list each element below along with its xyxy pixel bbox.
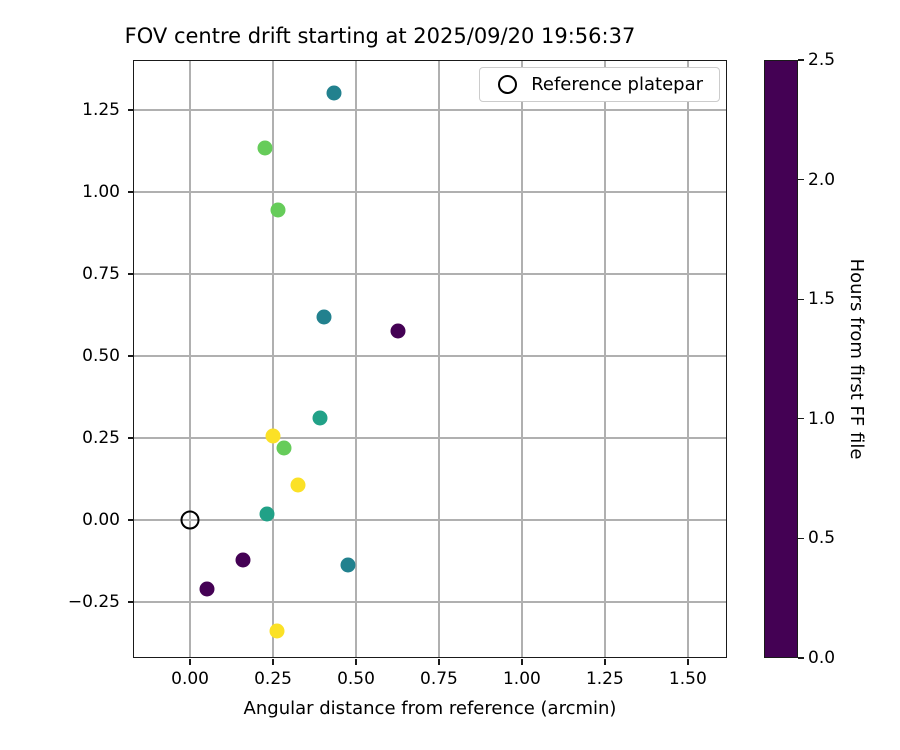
scatter-point — [270, 624, 285, 639]
gridline-horizontal — [134, 601, 726, 602]
x-tick — [687, 659, 688, 665]
y-tick-label: 0.50 — [82, 346, 120, 366]
y-tick-label: −0.25 — [68, 592, 120, 612]
chart-title: FOV centre drift starting at 2025/09/20 … — [0, 24, 760, 48]
x-tick-label: 0.50 — [337, 669, 375, 689]
gridline-horizontal — [134, 355, 726, 356]
y-tick — [128, 355, 134, 356]
y-tick — [128, 437, 134, 438]
gridline-vertical — [521, 61, 522, 657]
colorbar: 0.00.51.01.52.02.5 — [764, 60, 798, 658]
colorbar-tick-label: 1.5 — [808, 289, 835, 309]
colorbar-tick — [798, 418, 804, 419]
gridline-horizontal — [134, 437, 726, 438]
gridline-horizontal — [134, 519, 726, 520]
scatter-point — [317, 309, 332, 324]
reference-platepar-marker-icon — [498, 75, 517, 94]
x-tick — [604, 659, 605, 665]
colorbar-tick — [798, 59, 804, 60]
y-tick — [128, 191, 134, 192]
gridline-horizontal — [134, 273, 726, 274]
x-tick-label: 1.00 — [503, 669, 541, 689]
x-tick — [272, 659, 273, 665]
scatter-point — [391, 324, 406, 339]
scatter-point — [199, 582, 214, 597]
colorbar-tick-label: 2.5 — [808, 50, 835, 70]
colorbar-tick — [798, 538, 804, 539]
y-tick — [128, 519, 134, 520]
x-tick — [438, 659, 439, 665]
scatter-point — [271, 202, 286, 217]
scatter-point — [327, 86, 342, 101]
colorbar-label: Hours from first FF file — [846, 60, 866, 658]
y-tick-label: 0.75 — [82, 264, 120, 284]
colorbar-tick-label: 0.5 — [808, 528, 835, 548]
colorbar-tick — [798, 299, 804, 300]
colorbar-tick-label: 1.0 — [808, 409, 835, 429]
gridline-vertical — [687, 61, 688, 657]
scatter-point — [276, 440, 291, 455]
gridline-vertical — [604, 61, 605, 657]
y-tick — [128, 273, 134, 274]
scatter-point — [313, 411, 328, 426]
x-tick-label: 1.25 — [586, 669, 624, 689]
y-tick-label: 0.00 — [82, 510, 120, 530]
colorbar-tick-label: 0.0 — [808, 648, 835, 668]
legend[interactable]: Reference platepar — [479, 67, 720, 102]
x-tick — [521, 659, 522, 665]
x-tick-label: 0.25 — [254, 669, 292, 689]
gridline-vertical — [355, 61, 356, 657]
scatter-point — [260, 507, 275, 522]
reference-platepar-point — [181, 510, 200, 529]
gridline-vertical — [272, 61, 273, 657]
gridline-horizontal — [134, 109, 726, 110]
y-tick — [128, 601, 134, 602]
x-tick-label: 0.00 — [171, 669, 209, 689]
y-tick — [128, 109, 134, 110]
y-tick-label: 1.25 — [82, 100, 120, 120]
x-tick — [355, 659, 356, 665]
scatter-point — [290, 478, 305, 493]
y-tick-label: 0.25 — [82, 428, 120, 448]
gridline-horizontal — [134, 191, 726, 192]
colorbar-tick — [798, 657, 804, 658]
x-tick-label: 0.75 — [420, 669, 458, 689]
scatter-point — [340, 557, 355, 572]
x-axis-label: Angular distance from reference (arcmin) — [133, 698, 727, 719]
gridline-vertical — [189, 61, 190, 657]
figure: FOV centre drift starting at 2025/09/20 … — [0, 0, 900, 750]
colorbar-tick-label: 2.0 — [808, 170, 835, 190]
y-tick-label: 1.00 — [82, 182, 120, 202]
colorbar-gradient — [764, 60, 798, 658]
plot-area: 0.000.250.500.751.001.251.50−0.250.000.2… — [133, 60, 727, 658]
colorbar-tick — [798, 179, 804, 180]
x-tick — [189, 659, 190, 665]
legend-label-reference-platepar: Reference platepar — [531, 74, 707, 95]
gridline-vertical — [438, 61, 439, 657]
scatter-point — [257, 141, 272, 156]
scatter-point — [236, 552, 251, 567]
x-tick-label: 1.50 — [669, 669, 707, 689]
